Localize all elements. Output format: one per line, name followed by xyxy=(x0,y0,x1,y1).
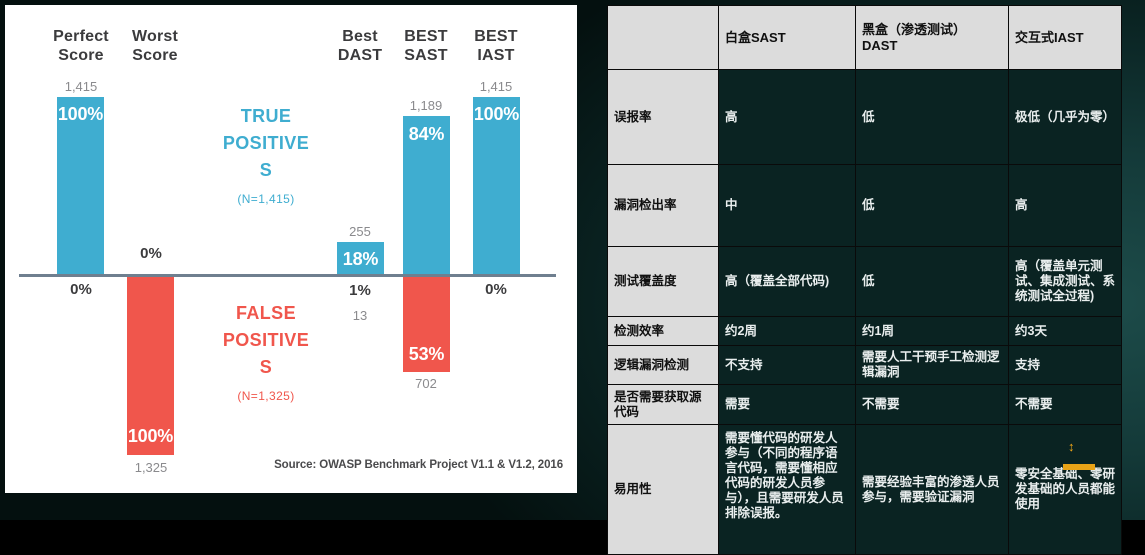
bar-fp-best-sast: 53% xyxy=(403,277,450,372)
cell-detection-efficiency-iast: 约3天 xyxy=(1009,317,1122,346)
table-row: 检测效率 约2周 约1周 约3天 xyxy=(608,317,1122,346)
bar-value-label: 53% xyxy=(403,344,450,365)
bar-value-label: 18% xyxy=(337,249,384,270)
fp-label-dast: 1% xyxy=(316,282,404,299)
table-col-header-iast: 交互式IAST xyxy=(1009,6,1122,70)
cell-ease-of-use-sast: 需要懂代码的研发人参与（不同的程序语言代码，需要懂相应代码的研发人员参与），且需… xyxy=(719,425,856,555)
cell-logic-flaw-detection-dast: 需要人工干预手工检测逻辑漏洞 xyxy=(856,346,1009,385)
annotation-line-2: POSITIVE xyxy=(201,130,331,157)
bar-value-label: 100% xyxy=(473,104,520,125)
chart-source-note: Source: OWASP Benchmark Project V1.1 & V… xyxy=(274,459,563,471)
count-label-tp-dast: 255 xyxy=(316,224,404,239)
fp-label-perfect: 0% xyxy=(35,281,127,298)
cell-false-positive-rate-iast: 极低（几乎为零） xyxy=(1009,70,1122,165)
table-row: 是否需要获取源代码 需要 不需要 不需要 xyxy=(608,385,1122,425)
annotation-sub: (N=1,325) xyxy=(201,383,331,410)
table-header-row: 白盒SAST 黑盒（渗透测试） DAST 交互式IAST xyxy=(608,6,1122,70)
cell-detection-rate-iast: 高 xyxy=(1009,165,1122,247)
annotation-line-3: S xyxy=(201,157,331,184)
row-label-ease-of-use: 易用性 xyxy=(608,425,719,555)
cell-false-positive-rate-sast: 高 xyxy=(719,70,856,165)
cell-detection-rate-sast: 中 xyxy=(719,165,856,247)
annotation-line-1: TRUE xyxy=(201,103,331,130)
cell-ease-of-use-iast: 零安全基础、零研发基础的人员都能使用 xyxy=(1009,425,1122,555)
bar-tp-best-sast: 84% xyxy=(403,116,450,275)
bar-tp-best-dast: 18% xyxy=(337,242,384,275)
row-label-test-coverage: 测试覆盖度 xyxy=(608,247,719,317)
table-row: 漏洞检出率 中 低 高 xyxy=(608,165,1122,247)
row-label-detection-efficiency: 检测效率 xyxy=(608,317,719,346)
bar-value-label: 84% xyxy=(403,124,450,145)
table-col-header-sast: 白盒SAST xyxy=(719,6,856,70)
count-label-tp-iast: 1,415 xyxy=(452,79,540,94)
count-label-fp-dast: 13 xyxy=(316,308,404,323)
cell-test-coverage-sast: 高（覆盖全部代码) xyxy=(719,247,856,317)
cell-detection-efficiency-dast: 约1周 xyxy=(856,317,1009,346)
cell-source-code-required-dast: 不需要 xyxy=(856,385,1009,425)
cell-logic-flaw-detection-sast: 不支持 xyxy=(719,346,856,385)
text-selection-underline xyxy=(1063,464,1095,470)
cell-logic-flaw-detection-iast: 支持 xyxy=(1009,346,1122,385)
cell-source-code-required-iast: 不需要 xyxy=(1009,385,1122,425)
bar-value-label: 100% xyxy=(127,426,174,447)
count-label-fp-sast: 702 xyxy=(382,376,470,391)
count-label-tp-perfect: 1,415 xyxy=(35,79,127,94)
sast-dast-iast-comparison-table: 白盒SAST 黑盒（渗透测试） DAST 交互式IAST 误报率 高 低 极低（… xyxy=(607,5,1122,498)
row-label-source-code-required: 是否需要获取源代码 xyxy=(608,385,719,425)
annotation-line-2: POSITIVE xyxy=(201,327,331,354)
cell-false-positive-rate-dast: 低 xyxy=(856,70,1009,165)
annotation-true-positives: TRUE POSITIVE S (N=1,415) xyxy=(201,103,331,213)
tp-label-worst: 0% xyxy=(105,245,197,262)
chart-zero-axis xyxy=(19,274,556,277)
cell-detection-rate-dast: 低 xyxy=(856,165,1009,247)
annotation-line-1: FALSE xyxy=(201,300,331,327)
bar-tp-perfect-score: 100% xyxy=(57,97,104,275)
header-line-2: IAST xyxy=(452,46,540,65)
table-row: 测试覆盖度 高（覆盖全部代码) 低 高（覆盖单元测试、集成测试、系统测试全过程) xyxy=(608,247,1122,317)
table-corner-cell xyxy=(608,6,719,70)
table-col-header-dast: 黑盒（渗透测试） DAST xyxy=(856,6,1009,70)
cell-source-code-required-sast: 需要 xyxy=(719,385,856,425)
owasp-benchmark-chart: Perfect Score Worst Score Best DAST BEST… xyxy=(5,5,577,493)
cell-ease-of-use-dast: 需要经验丰富的渗透人员参与，需要验证漏洞 xyxy=(856,425,1009,555)
chart-column-header-best-iast: BEST IAST xyxy=(452,27,540,65)
annotation-false-positives: FALSE POSITIVE S (N=1,325) xyxy=(201,300,331,410)
bar-fp-worst-score: 100% xyxy=(127,277,174,455)
table-row: 逻辑漏洞检测 不支持 需要人工干预手工检测逻辑漏洞 支持 xyxy=(608,346,1122,385)
table-row: 误报率 高 低 极低（几乎为零） xyxy=(608,70,1122,165)
annotation-line-3: S xyxy=(201,354,331,381)
row-label-logic-flaw-detection: 逻辑漏洞检测 xyxy=(608,346,719,385)
table-row: 易用性 需要懂代码的研发人参与（不同的程序语言代码，需要懂相应代码的研发人员参与… xyxy=(608,425,1122,555)
annotation-sub: (N=1,415) xyxy=(201,186,331,213)
row-label-detection-rate: 漏洞检出率 xyxy=(608,165,719,247)
chart-column-header-worst-score: Worst Score xyxy=(109,27,201,65)
cell-test-coverage-dast: 低 xyxy=(856,247,1009,317)
header-line-1: BEST xyxy=(452,27,540,46)
count-label-tp-sast: 1,189 xyxy=(382,98,470,113)
header-line-1: Worst xyxy=(109,27,201,46)
slide-canvas: Perfect Score Worst Score Best DAST BEST… xyxy=(0,0,1145,520)
bar-tp-best-iast: 100% xyxy=(473,97,520,275)
fp-label-iast: 0% xyxy=(452,281,540,298)
header-line-2: Score xyxy=(109,46,201,65)
cell-test-coverage-iast: 高（覆盖单元测试、集成测试、系统测试全过程) xyxy=(1009,247,1122,317)
cell-detection-efficiency-sast: 约2周 xyxy=(719,317,856,346)
count-label-fp-worst: 1,325 xyxy=(105,460,197,475)
bar-value-label: 100% xyxy=(57,104,104,125)
row-label-false-positive-rate: 误报率 xyxy=(608,70,719,165)
